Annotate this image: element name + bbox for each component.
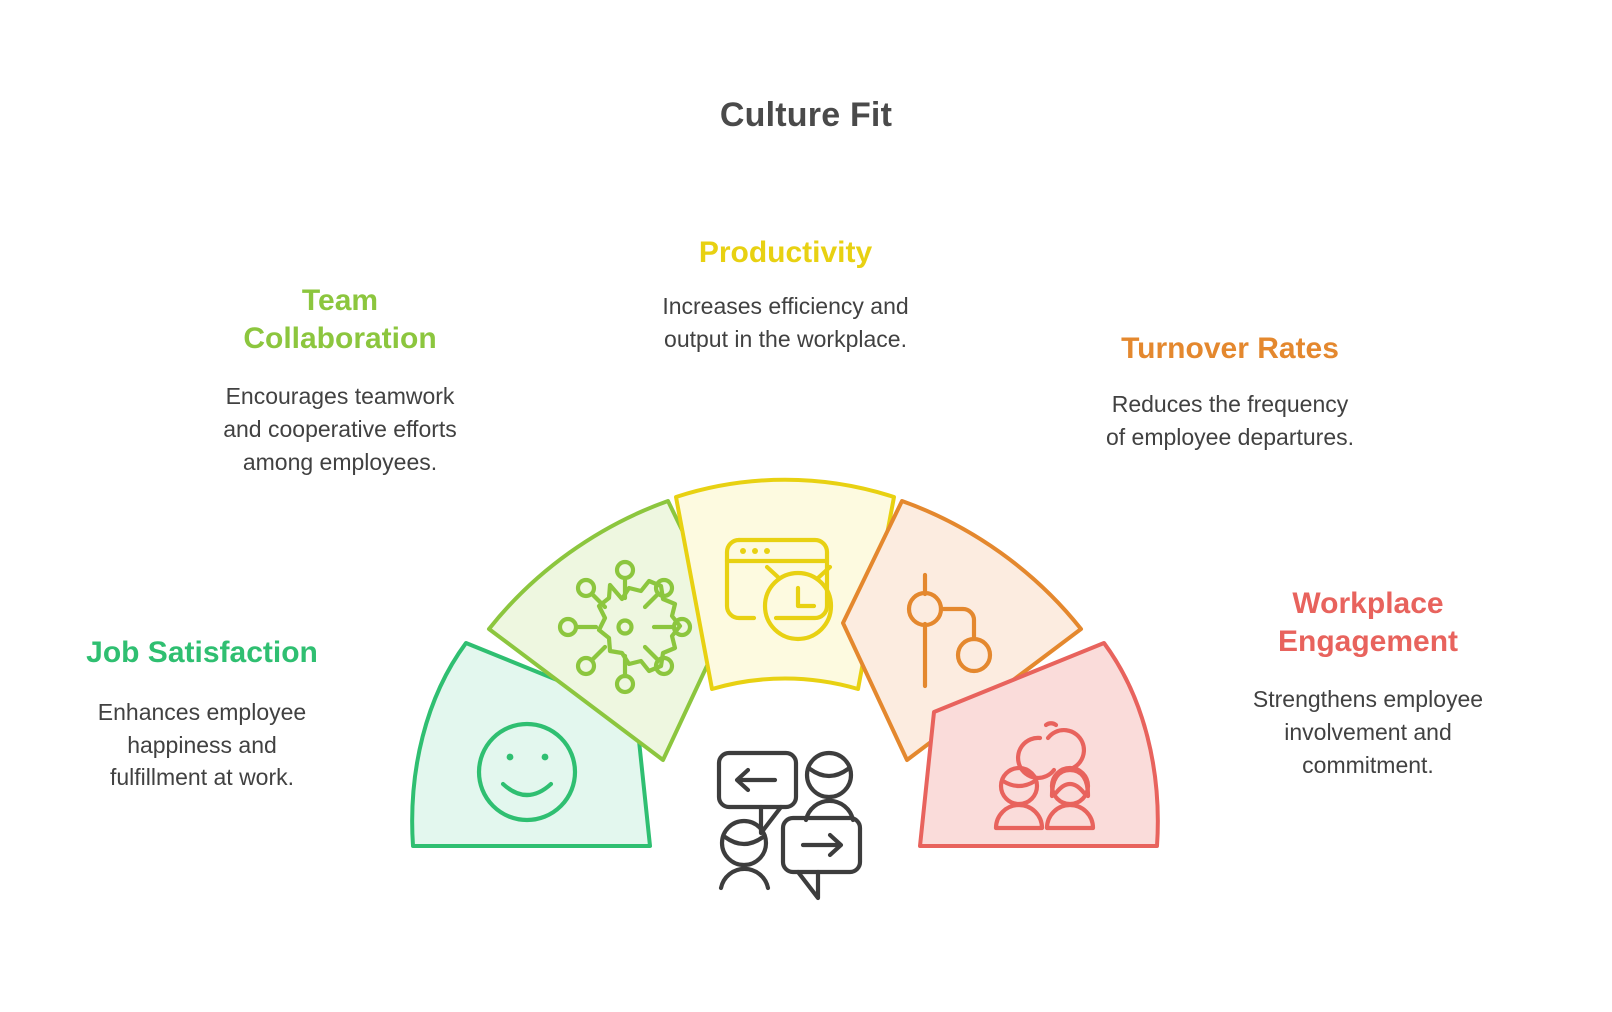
heading-line: Team — [150, 282, 530, 320]
description-line: Encourages teamwork — [150, 380, 530, 413]
heading-line: Collaboration — [150, 320, 530, 358]
description-line: Enhances employee — [22, 696, 382, 729]
description-line: and cooperative efforts — [150, 413, 530, 446]
label-block-team-collaboration: Team Collaboration Encourages teamwork a… — [150, 282, 530, 478]
description-line: of employee departures. — [1052, 421, 1408, 454]
description-productivity: Increases efficiency and output in the w… — [588, 290, 983, 355]
description-turnover-rates: Reduces the frequency of employee depart… — [1052, 388, 1408, 453]
infographic-canvas: Culture Fit — [0, 0, 1612, 1012]
label-block-workplace-engagement: Workplace Engagement Strengthens employe… — [1198, 585, 1538, 781]
heading-line: Workplace — [1198, 585, 1538, 623]
description-line: Increases efficiency and — [588, 290, 983, 323]
label-block-job-satisfaction: Job Satisfaction Enhances employee happi… — [22, 634, 382, 794]
description-workplace-engagement: Strengthens employee involvement and com… — [1198, 683, 1538, 781]
feedback-conversation-icon — [719, 753, 860, 898]
description-line: among employees. — [150, 446, 530, 479]
label-block-turnover-rates: Turnover Rates Reduces the frequency of … — [1052, 330, 1408, 453]
description-line: happiness and — [22, 729, 382, 762]
culture-fit-fan-diagram — [0, 0, 1612, 1012]
heading-job-satisfaction: Job Satisfaction — [22, 634, 382, 672]
description-line: Strengthens employee — [1198, 683, 1538, 716]
heading-productivity: Productivity — [588, 234, 983, 272]
description-line: fulfillment at work. — [22, 761, 382, 794]
heading-team-collaboration: Team Collaboration — [150, 282, 530, 358]
description-line: Reduces the frequency — [1052, 388, 1408, 421]
heading-line: Engagement — [1198, 623, 1538, 661]
description-team-collaboration: Encourages teamwork and cooperative effo… — [150, 380, 530, 478]
description-line: commitment. — [1198, 749, 1538, 782]
description-job-satisfaction: Enhances employee happiness and fulfillm… — [22, 696, 382, 794]
heading-turnover-rates: Turnover Rates — [1052, 330, 1408, 368]
heading-workplace-engagement: Workplace Engagement — [1198, 585, 1538, 661]
description-line: output in the workplace. — [588, 323, 983, 356]
description-line: involvement and — [1198, 716, 1538, 749]
label-block-productivity: Productivity Increases efficiency and ou… — [588, 234, 983, 355]
